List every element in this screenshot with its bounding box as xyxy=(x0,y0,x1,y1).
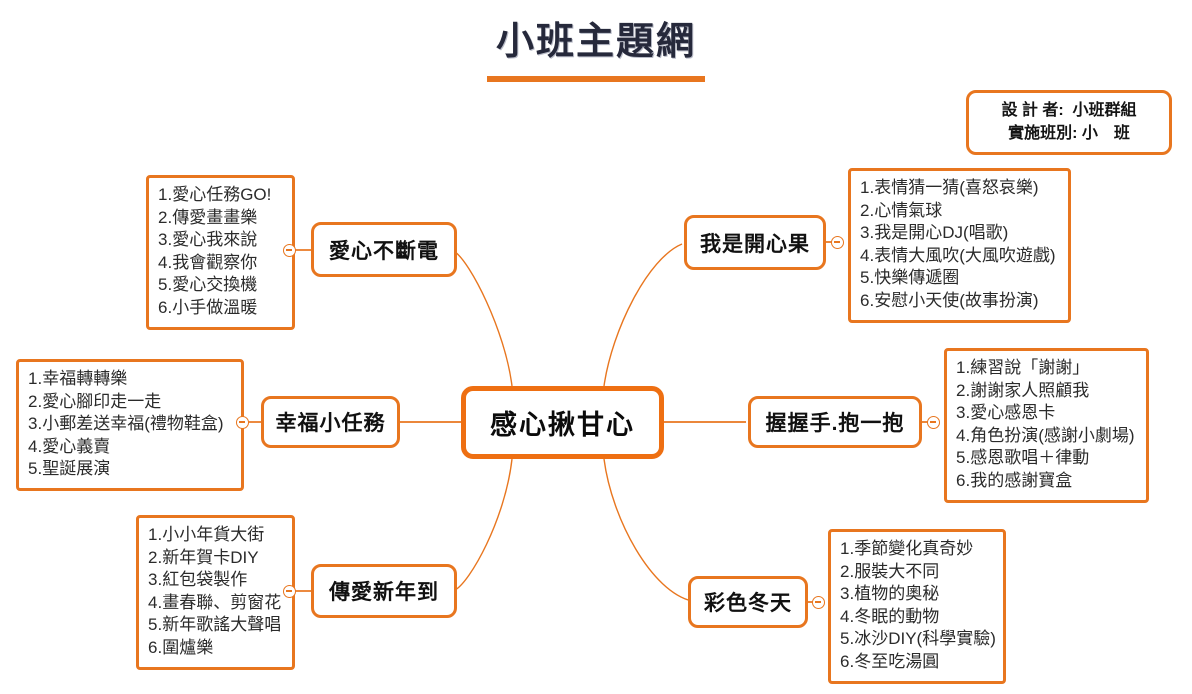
list-item: 我的感謝寶盒 xyxy=(956,470,1137,493)
collapse-toggle-handshake-hug[interactable] xyxy=(927,416,940,429)
collapse-toggle-happy-fruit[interactable] xyxy=(831,236,844,249)
list-item: 練習說「謝謝」 xyxy=(956,357,1137,380)
branch-node-new-year-love[interactable]: 傳愛新年到 xyxy=(311,564,457,618)
leaf-items: 小小年貨大街 新年賀卡DIY 紅包袋製作 畫春聯、剪窗花 新年歌謠大聲唱 圍爐樂 xyxy=(148,524,283,660)
leaf-list-love-nonstop: 愛心任務GO! 傳愛畫畫樂 愛心我來說 我會觀察你 愛心交換機 小手做溫暖 xyxy=(146,175,295,330)
list-item: 新年賀卡DIY xyxy=(148,547,283,570)
list-item: 冬眠的動物 xyxy=(840,606,994,629)
designer-line-1: 設 計 者: 小班群組 xyxy=(977,99,1161,122)
branch-node-happy-fruit[interactable]: 我是開心果 xyxy=(684,215,826,270)
list-item: 快樂傳遞圈 xyxy=(860,267,1059,290)
leaf-list-new-year-love: 小小年貨大街 新年賀卡DIY 紅包袋製作 畫春聯、剪窗花 新年歌謠大聲唱 圍爐樂 xyxy=(136,515,295,670)
leaf-items: 表情猜一猜(喜怒哀樂) 心情氣球 我是開心DJ(唱歌) 表情大風吹(大風吹遊戲)… xyxy=(860,177,1059,313)
branch-label: 我是開心果 xyxy=(700,228,810,258)
list-item: 愛心感恩卡 xyxy=(956,402,1137,425)
branch-label: 握握手.抱一抱 xyxy=(766,407,905,437)
title-underline xyxy=(487,76,705,82)
list-item: 愛心交換機 xyxy=(158,274,283,297)
list-item: 冰沙DIY(科學實驗) xyxy=(840,628,994,651)
leaf-list-colorful-winter: 季節變化真奇妙 服裝大不同 植物的奧秘 冬眠的動物 冰沙DIY(科學實驗) 冬至… xyxy=(828,529,1006,684)
collapse-toggle-new-year-love[interactable] xyxy=(283,585,296,598)
branch-node-love-nonstop[interactable]: 愛心不斷電 xyxy=(311,222,457,277)
leaf-items: 愛心任務GO! 傳愛畫畫樂 愛心我來說 我會觀察你 愛心交換機 小手做溫暖 xyxy=(158,184,283,320)
collapse-toggle-love-nonstop[interactable] xyxy=(283,244,296,257)
list-item: 冬至吃湯圓 xyxy=(840,651,994,674)
center-node-label: 感心揪甘心 xyxy=(490,403,635,442)
title-block: 小班主題網 xyxy=(0,22,1192,82)
list-item: 幸福轉轉樂 xyxy=(28,368,232,391)
branch-label: 愛心不斷電 xyxy=(329,235,439,265)
list-item: 服裝大不同 xyxy=(840,561,994,584)
list-item: 小手做溫暖 xyxy=(158,297,283,320)
branch-node-handshake-hug[interactable]: 握握手.抱一抱 xyxy=(748,396,922,448)
list-item: 安慰小天使(故事扮演) xyxy=(860,290,1059,313)
list-item: 聖誕展演 xyxy=(28,458,232,481)
list-item: 新年歌謠大聲唱 xyxy=(148,614,283,637)
designer-line-2: 實施班別: 小 班 xyxy=(977,122,1161,145)
list-item: 我會觀察你 xyxy=(158,252,283,275)
leaf-items: 季節變化真奇妙 服裝大不同 植物的奧秘 冬眠的動物 冰沙DIY(科學實驗) 冬至… xyxy=(840,538,994,674)
list-item: 傳愛畫畫樂 xyxy=(158,207,283,230)
list-item: 角色扮演(感謝小劇場) xyxy=(956,425,1137,448)
list-item: 小小年貨大街 xyxy=(148,524,283,547)
list-item: 植物的奧秘 xyxy=(840,583,994,606)
list-item: 表情大風吹(大風吹遊戲) xyxy=(860,245,1059,268)
list-item: 謝謝家人照顧我 xyxy=(956,380,1137,403)
leaf-items: 練習說「謝謝」 謝謝家人照顧我 愛心感恩卡 角色扮演(感謝小劇場) 感恩歌唱＋律… xyxy=(956,357,1137,493)
collapse-toggle-happiness-mission[interactable] xyxy=(236,416,249,429)
center-node[interactable]: 感心揪甘心 xyxy=(461,386,664,459)
leaf-list-handshake-hug: 練習說「謝謝」 謝謝家人照顧我 愛心感恩卡 角色扮演(感謝小劇場) 感恩歌唱＋律… xyxy=(944,348,1149,503)
leaf-list-happiness-mission: 幸福轉轉樂 愛心腳印走一走 小郵差送幸福(禮物鞋盒) 愛心義賣 聖誕展演 xyxy=(16,359,244,491)
leaf-items: 幸福轉轉樂 愛心腳印走一走 小郵差送幸福(禮物鞋盒) 愛心義賣 聖誕展演 xyxy=(28,368,232,481)
list-item: 我是開心DJ(唱歌) xyxy=(860,222,1059,245)
list-item: 紅包袋製作 xyxy=(148,569,283,592)
list-item: 愛心任務GO! xyxy=(158,184,283,207)
list-item: 表情猜一猜(喜怒哀樂) xyxy=(860,177,1059,200)
list-item: 畫春聯、剪窗花 xyxy=(148,592,283,615)
branch-node-colorful-winter[interactable]: 彩色冬天 xyxy=(688,576,808,628)
designer-info-box: 設 計 者: 小班群組 實施班別: 小 班 xyxy=(966,90,1172,155)
branch-label: 傳愛新年到 xyxy=(329,576,439,606)
collapse-toggle-colorful-winter[interactable] xyxy=(812,596,825,609)
mindmap-canvas: 小班主題網 設 計 者: 小班群組 實施班別: 小 班 感心揪甘心 愛心不斷電 … xyxy=(0,0,1192,694)
page-title: 小班主題網 xyxy=(0,22,1192,64)
list-item: 愛心腳印走一走 xyxy=(28,391,232,414)
branch-label: 彩色冬天 xyxy=(704,587,792,617)
list-item: 圍爐樂 xyxy=(148,637,283,660)
list-item: 愛心義賣 xyxy=(28,436,232,459)
list-item: 愛心我來說 xyxy=(158,229,283,252)
list-item: 感恩歌唱＋律動 xyxy=(956,447,1137,470)
list-item: 小郵差送幸福(禮物鞋盒) xyxy=(28,413,232,436)
branch-node-happiness-mission[interactable]: 幸福小任務 xyxy=(261,396,400,448)
list-item: 心情氣球 xyxy=(860,200,1059,223)
branch-label: 幸福小任務 xyxy=(276,407,386,437)
leaf-list-happy-fruit: 表情猜一猜(喜怒哀樂) 心情氣球 我是開心DJ(唱歌) 表情大風吹(大風吹遊戲)… xyxy=(848,168,1071,323)
list-item: 季節變化真奇妙 xyxy=(840,538,994,561)
